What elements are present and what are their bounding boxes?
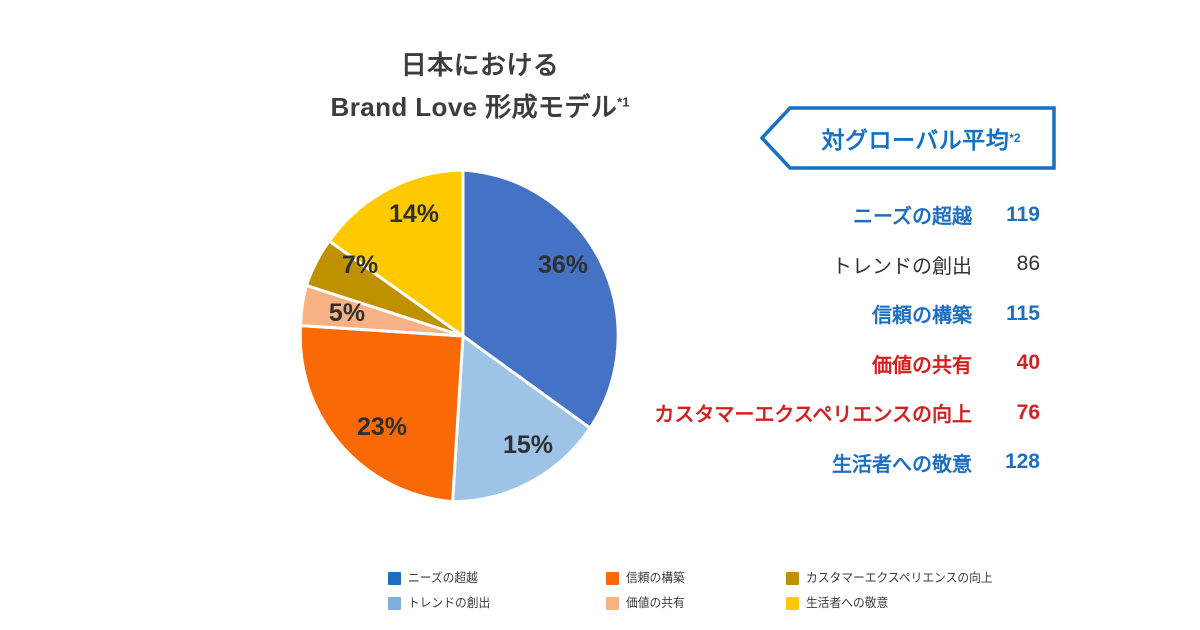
index-label: ニーズの超越 <box>853 200 972 229</box>
pie-slices <box>300 170 618 502</box>
index-row-customer-experience: カスタマーエクスペリエンスの向上 76 <box>640 388 1040 438</box>
index-value: 76 <box>986 401 1040 425</box>
index-row-needs-transcendence: ニーズの超越 119 <box>640 190 1040 240</box>
pie-svg: 36% 15% 23% 5% 7% 14% <box>282 155 644 517</box>
legend-label: 信頼の構築 <box>626 572 685 585</box>
index-value: 119 <box>986 203 1040 227</box>
title-line-1: 日本における <box>200 44 760 86</box>
legend-swatch-icon <box>786 572 799 585</box>
legend-swatch-icon <box>606 572 619 585</box>
legend-item-trust-building[interactable]: 信頼の構築 <box>606 572 786 585</box>
legend-label: カスタマーエクスペリエンスの向上 <box>806 572 993 585</box>
pie-label-value-sharing: 5% <box>329 299 365 327</box>
index-row-trust-building: 信頼の構築 115 <box>640 289 1040 339</box>
global-average-banner: 対グローバル平均*2 <box>760 106 1056 170</box>
legend-label: 生活者への敬意 <box>806 597 888 610</box>
pie-label-needs-transcendence: 36% <box>538 251 588 279</box>
pie-label-respect-for-consumers: 14% <box>389 200 439 228</box>
legend-label: トレンドの創出 <box>408 597 490 610</box>
legend-swatch-icon <box>388 572 401 585</box>
legend-item-needs-transcendence[interactable]: ニーズの超越 <box>388 572 606 585</box>
legend-item-customer-experience[interactable]: カスタマーエクスペリエンスの向上 <box>786 572 1048 585</box>
index-value: 86 <box>986 252 1040 276</box>
banner-footnote-marker: *2 <box>1009 131 1020 145</box>
legend-item-respect-for-consumers[interactable]: 生活者への敬意 <box>786 597 1048 610</box>
index-row-respect-for-consumers: 生活者への敬意 128 <box>640 438 1040 488</box>
title-line-2-text: Brand Love 形成モデル <box>331 92 618 122</box>
index-value: 128 <box>986 450 1040 474</box>
page-title: 日本における Brand Love 形成モデル*1 <box>200 44 760 128</box>
index-label: トレンドの創出 <box>832 250 972 279</box>
legend-item-value-sharing[interactable]: 価値の共有 <box>606 597 786 610</box>
banner-label-text: 対グローバル平均 <box>821 121 1009 155</box>
pie-chart: 36% 15% 23% 5% 7% 14% <box>282 155 644 517</box>
pie-label-trust-building: 23% <box>357 413 407 441</box>
legend-swatch-icon <box>606 597 619 610</box>
legend-swatch-icon <box>786 597 799 610</box>
title-footnote-marker: *1 <box>617 94 629 109</box>
pie-label-trend-creation: 15% <box>503 431 553 459</box>
index-value: 115 <box>986 302 1040 326</box>
pie-label-customer-experience: 7% <box>342 251 378 279</box>
legend-item-trend-creation[interactable]: トレンドの創出 <box>388 597 606 610</box>
index-label: 価値の共有 <box>872 349 972 378</box>
chart-canvas: 日本における Brand Love 形成モデル*1 36% 15% <box>0 0 1200 630</box>
index-list: ニーズの超越 119 トレンドの創出 86 信頼の構築 115 価値の共有 40… <box>640 190 1040 487</box>
legend-swatch-icon <box>388 597 401 610</box>
legend-label: ニーズの超越 <box>408 572 478 585</box>
index-label: カスタマーエクスペリエンスの向上 <box>654 398 972 427</box>
banner-label: 対グローバル平均*2 <box>760 106 1056 170</box>
index-value: 40 <box>986 351 1040 375</box>
index-row-value-sharing: 価値の共有 40 <box>640 339 1040 389</box>
chart-legend: ニーズの超越 信頼の構築 カスタマーエクスペリエンスの向上 トレンドの創出 価値… <box>388 566 1048 616</box>
legend-label: 価値の共有 <box>626 597 685 610</box>
index-label: 信頼の構築 <box>872 299 972 328</box>
index-label: 生活者への敬意 <box>832 448 972 477</box>
title-line-2: Brand Love 形成モデル*1 <box>200 86 760 128</box>
index-row-trend-creation: トレンドの創出 86 <box>640 240 1040 290</box>
